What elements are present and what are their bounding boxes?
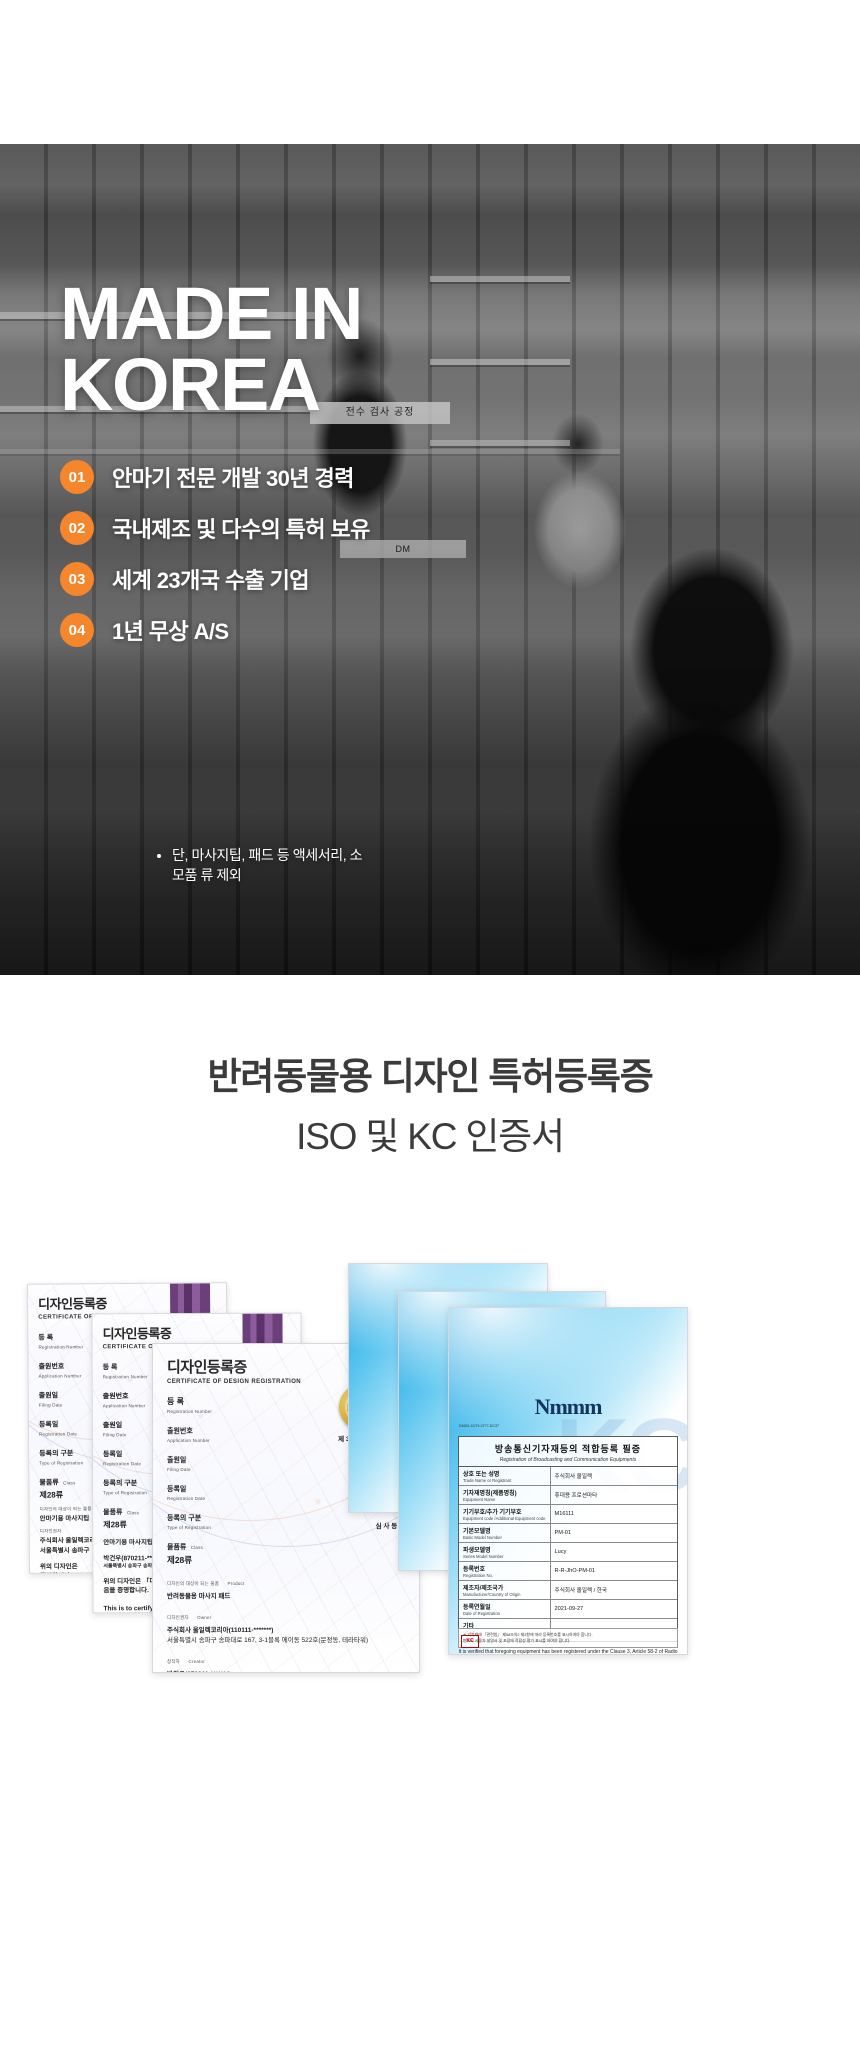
- kc-row-label: 등록번호 Registration No.: [459, 1562, 551, 1580]
- kc-label-en: Trade Name or Registrant: [463, 1478, 546, 1483]
- field-label-en: Type of Registration: [167, 1525, 211, 1530]
- field-label-kr: 출원일: [103, 1422, 122, 1429]
- kc-row-value: R-R-JhO-PM-01: [551, 1562, 677, 1580]
- owner-label: 디자인권자: [167, 1615, 189, 1620]
- kc-row-value: 2021-09-27: [551, 1600, 677, 1618]
- field-label-kr: 출원번호: [39, 1363, 65, 1370]
- field-label-kr: 출원일: [167, 1457, 186, 1464]
- creator-label-en: Creator: [188, 1659, 204, 1664]
- kc-row-value: Lucy: [551, 1543, 677, 1561]
- kc-label-en: Equipment Name: [463, 1497, 546, 1502]
- feature-item: 01 안마기 전문 개발 30년 경력: [60, 460, 370, 494]
- field-label-kr: 등록의 구분: [167, 1515, 201, 1522]
- field-label-kr: 출원번호: [103, 1393, 129, 1400]
- field-label-en: Registration Date: [167, 1496, 205, 1501]
- field-label-kr: 등 록: [103, 1364, 118, 1371]
- kc-registration-table: 방송통신기자재등의 적합등록 필증 Registration of Broadc…: [458, 1436, 678, 1642]
- section-title-line-2: ISO 및 KC 인증서: [0, 1107, 860, 1167]
- product-field: 디자인의 대상이 되는 물품 Product 반려동물용 마사지 패드: [167, 1572, 405, 1600]
- feature-label: 세계 23개국 수출 기업: [112, 563, 309, 595]
- feature-label: 안마기 전문 개발 30년 경력: [112, 461, 354, 493]
- page-top-spacer: [0, 0, 860, 144]
- feature-number-badge: 04: [60, 613, 94, 647]
- kc-label-kr: 제조자/제조국가: [463, 1583, 546, 1592]
- feature-item: 03 세계 23개국 수출 기업: [60, 562, 370, 596]
- hero-factory-banner: DM 전수 검사 공정 MADE IN KOREA 01 안마기 전문 개발 3…: [0, 144, 860, 975]
- kc-certificate[interactable]: KC Nmmm DMD3-12/79-0777-DC37 방송통신기자재등의 적…: [448, 1307, 688, 1655]
- kc-row-label: 제조자/제조국가 Manufacturer/Country of Origin: [459, 1581, 551, 1599]
- kc-label-en: Manufacturer/Country of Origin: [463, 1592, 546, 1597]
- kc-table-row: 등록번호 Registration No. R-R-JhO-PM-01: [459, 1562, 677, 1581]
- kc-label-en: Registration No.: [463, 1573, 546, 1578]
- field-label-en: Class: [63, 1480, 75, 1485]
- creator-value: 박건우(870211-*******): [167, 1668, 405, 1673]
- field-label-kr: 물품류: [167, 1544, 186, 1551]
- kc-caption-kr: 방송통신기자재등의 적합등록 필증: [461, 1442, 675, 1455]
- owner-value: 주식회사 올일렉코리아(110111-*******): [167, 1624, 405, 1634]
- kc-row-label: 파생모델명 Series Model Number: [459, 1543, 551, 1561]
- kc-label-en: Equipment code /Additional Equipment cod…: [463, 1516, 546, 1521]
- kc-label-kr: 등록연월일: [463, 1602, 546, 1611]
- product-label: 디자인의 대상이 되는 물품: [167, 1581, 219, 1586]
- kc-row-value: 주식회사 올일렉: [551, 1467, 677, 1485]
- feature-item: 02 국내제조 및 다수의 특허 보유: [60, 511, 370, 545]
- certificate-title: 디자인등록증: [103, 1323, 291, 1343]
- feature-number-badge: 01: [60, 460, 94, 494]
- kc-table-row: 상호 또는 성명 Trade Name or Registrant 주식회사 올…: [459, 1467, 677, 1486]
- owner-label-en: Owner: [197, 1615, 211, 1620]
- kc-table-caption: 방송통신기자재등의 적합등록 필증 Registration of Broadc…: [459, 1437, 677, 1467]
- kc-caption-en: Registration of Broadcasting and Communi…: [461, 1457, 675, 1463]
- kc-table-row: 제조자/제조국가 Manufacturer/Country of Origin …: [459, 1581, 677, 1600]
- feature-label: 1년 무상 A/S: [112, 614, 228, 646]
- field-label-en: Application Number: [167, 1438, 210, 1443]
- kc-table-row: 기자재명칭(제품명칭) Equipment Name 휴대용 프로션마타: [459, 1486, 677, 1505]
- kc-footer: It is verified that foregoing equipment …: [458, 1649, 678, 1655]
- field-label-kr: 등록일: [103, 1451, 122, 1458]
- kc-row-label: 상호 또는 성명 Trade Name or Registrant: [459, 1467, 551, 1485]
- field-label-kr: 등 록: [38, 1334, 53, 1341]
- field-label-kr: 물품류: [39, 1479, 58, 1486]
- kc-row-value: PM-01: [551, 1524, 677, 1542]
- kc-label-en: Date of Registration: [463, 1611, 546, 1616]
- kc-footnote: ※ 기자재에 「관련법」 제58조의2 제3항에 따라 등록번호를 표시하여야 …: [458, 1628, 678, 1648]
- kc-label-kr: 기기부호/추가 기기부호: [463, 1507, 546, 1516]
- field-label-kr: 출원번호: [167, 1428, 193, 1435]
- certificates-collage: 디자인등록증 CERTIFICATE OF DESIGN REGISTRATIO…: [0, 1251, 860, 1871]
- kc-table-row: 기기부호/추가 기기부호 Equipment code /Additional …: [459, 1505, 677, 1524]
- field-label-en: Class: [127, 1510, 139, 1515]
- hero-headline: MADE IN KOREA: [60, 278, 362, 420]
- field-label-kr: 등록일: [167, 1486, 186, 1493]
- headline-line-2: KOREA: [60, 349, 362, 420]
- field-label-kr: 등 록: [167, 1397, 184, 1406]
- kc-label-en: Series Model Number: [463, 1554, 546, 1559]
- kc-row-value: M16111: [551, 1505, 677, 1523]
- kc-label-kr: 상호 또는 성명: [463, 1469, 546, 1478]
- kc-table-row: 등록연월일 Date of Registration 2021-09-27: [459, 1600, 677, 1619]
- kc-row-value: 주식회사 올일렉 / 한국: [551, 1581, 677, 1599]
- field-label-kr: 등록의 구분: [39, 1450, 73, 1457]
- kc-row-label: 기기부호/추가 기기부호 Equipment code /Additional …: [459, 1505, 551, 1523]
- creator-field: 창작자 Creator 박건우(870211-*******) 서울특별시 송파…: [167, 1650, 405, 1673]
- field-label-kr: 등록의 구분: [103, 1480, 137, 1487]
- kc-verify-line: It is verified that foregoing equipment …: [458, 1649, 678, 1655]
- headline-line-1: MADE IN: [60, 278, 362, 349]
- feature-list: 01 안마기 전문 개발 30년 경력 02 국내제조 및 다수의 특허 보유 …: [60, 460, 370, 664]
- kc-table-row: 기본모델명 Basic Model Number PM-01: [459, 1524, 677, 1543]
- field-value: 제28류: [167, 1554, 405, 1566]
- kc-logo-text: Nmmm: [449, 1394, 687, 1420]
- feature-item: 04 1년 무상 A/S: [60, 613, 370, 647]
- product-value: 반려동물용 마사지 패드: [167, 1590, 405, 1600]
- kc-label-en: Basic Model Number: [463, 1535, 546, 1540]
- kc-row-label: 기자재명칭(제품명칭) Equipment Name: [459, 1486, 551, 1504]
- section-title-line-1: 반려동물용 디자인 특허등록증: [0, 1047, 860, 1107]
- field-label-kr: 물품류: [103, 1509, 122, 1516]
- field-label-en: Registration Number: [167, 1409, 212, 1414]
- owner-field: 디자인권자 Owner 주식회사 올일렉코리아(110111-*******) …: [167, 1606, 405, 1644]
- kc-label-kr: 기본모델명: [463, 1526, 546, 1535]
- creator-label: 창작자: [167, 1659, 180, 1664]
- kc-row-value: 휴대용 프로션마타: [551, 1486, 677, 1504]
- field-label-kr: 등록일: [39, 1421, 58, 1428]
- kc-label-kr: 기자재명칭(제품명칭): [463, 1488, 546, 1497]
- owner-address: 서울특별시 송파구 송파대로 167, 3-1블록 에이동 522호(문정동, …: [167, 1634, 405, 1644]
- kc-label-kr: 파생모델명: [463, 1545, 546, 1554]
- feature-number-badge: 02: [60, 511, 94, 545]
- field-label-en: Filing Date: [167, 1467, 191, 1472]
- certificate-title: 디자인등록증: [38, 1292, 216, 1312]
- field-label-en: Class: [191, 1545, 203, 1550]
- kc-row-label: 등록연월일 Date of Registration: [459, 1600, 551, 1618]
- feature-disclaimer: 단, 마사지팁, 패드 등 액세서리, 소모품 류 제외: [172, 845, 370, 885]
- kc-mark-icon: KC: [461, 1635, 479, 1648]
- section-title-block: 반려동물용 디자인 특허등록증 ISO 및 KC 인증서: [0, 975, 860, 1167]
- field-label-kr: 출원일: [39, 1392, 58, 1399]
- kc-table-row: 파생모델명 Series Model Number Lucy: [459, 1543, 677, 1562]
- kc-header: Nmmm: [449, 1308, 687, 1420]
- feature-label: 국내제조 및 다수의 특허 보유: [112, 512, 370, 544]
- product-label-en: Product: [228, 1581, 245, 1586]
- kc-label-kr: 등록번호: [463, 1564, 546, 1573]
- kc-row-label: 기본모델명 Basic Model Number: [459, 1524, 551, 1542]
- feature-number-badge: 03: [60, 562, 94, 596]
- certificate-field: 물품류 Class 제28류: [167, 1536, 405, 1566]
- kc-document-code: DMD3-12/79-0777-DC37: [459, 1424, 687, 1428]
